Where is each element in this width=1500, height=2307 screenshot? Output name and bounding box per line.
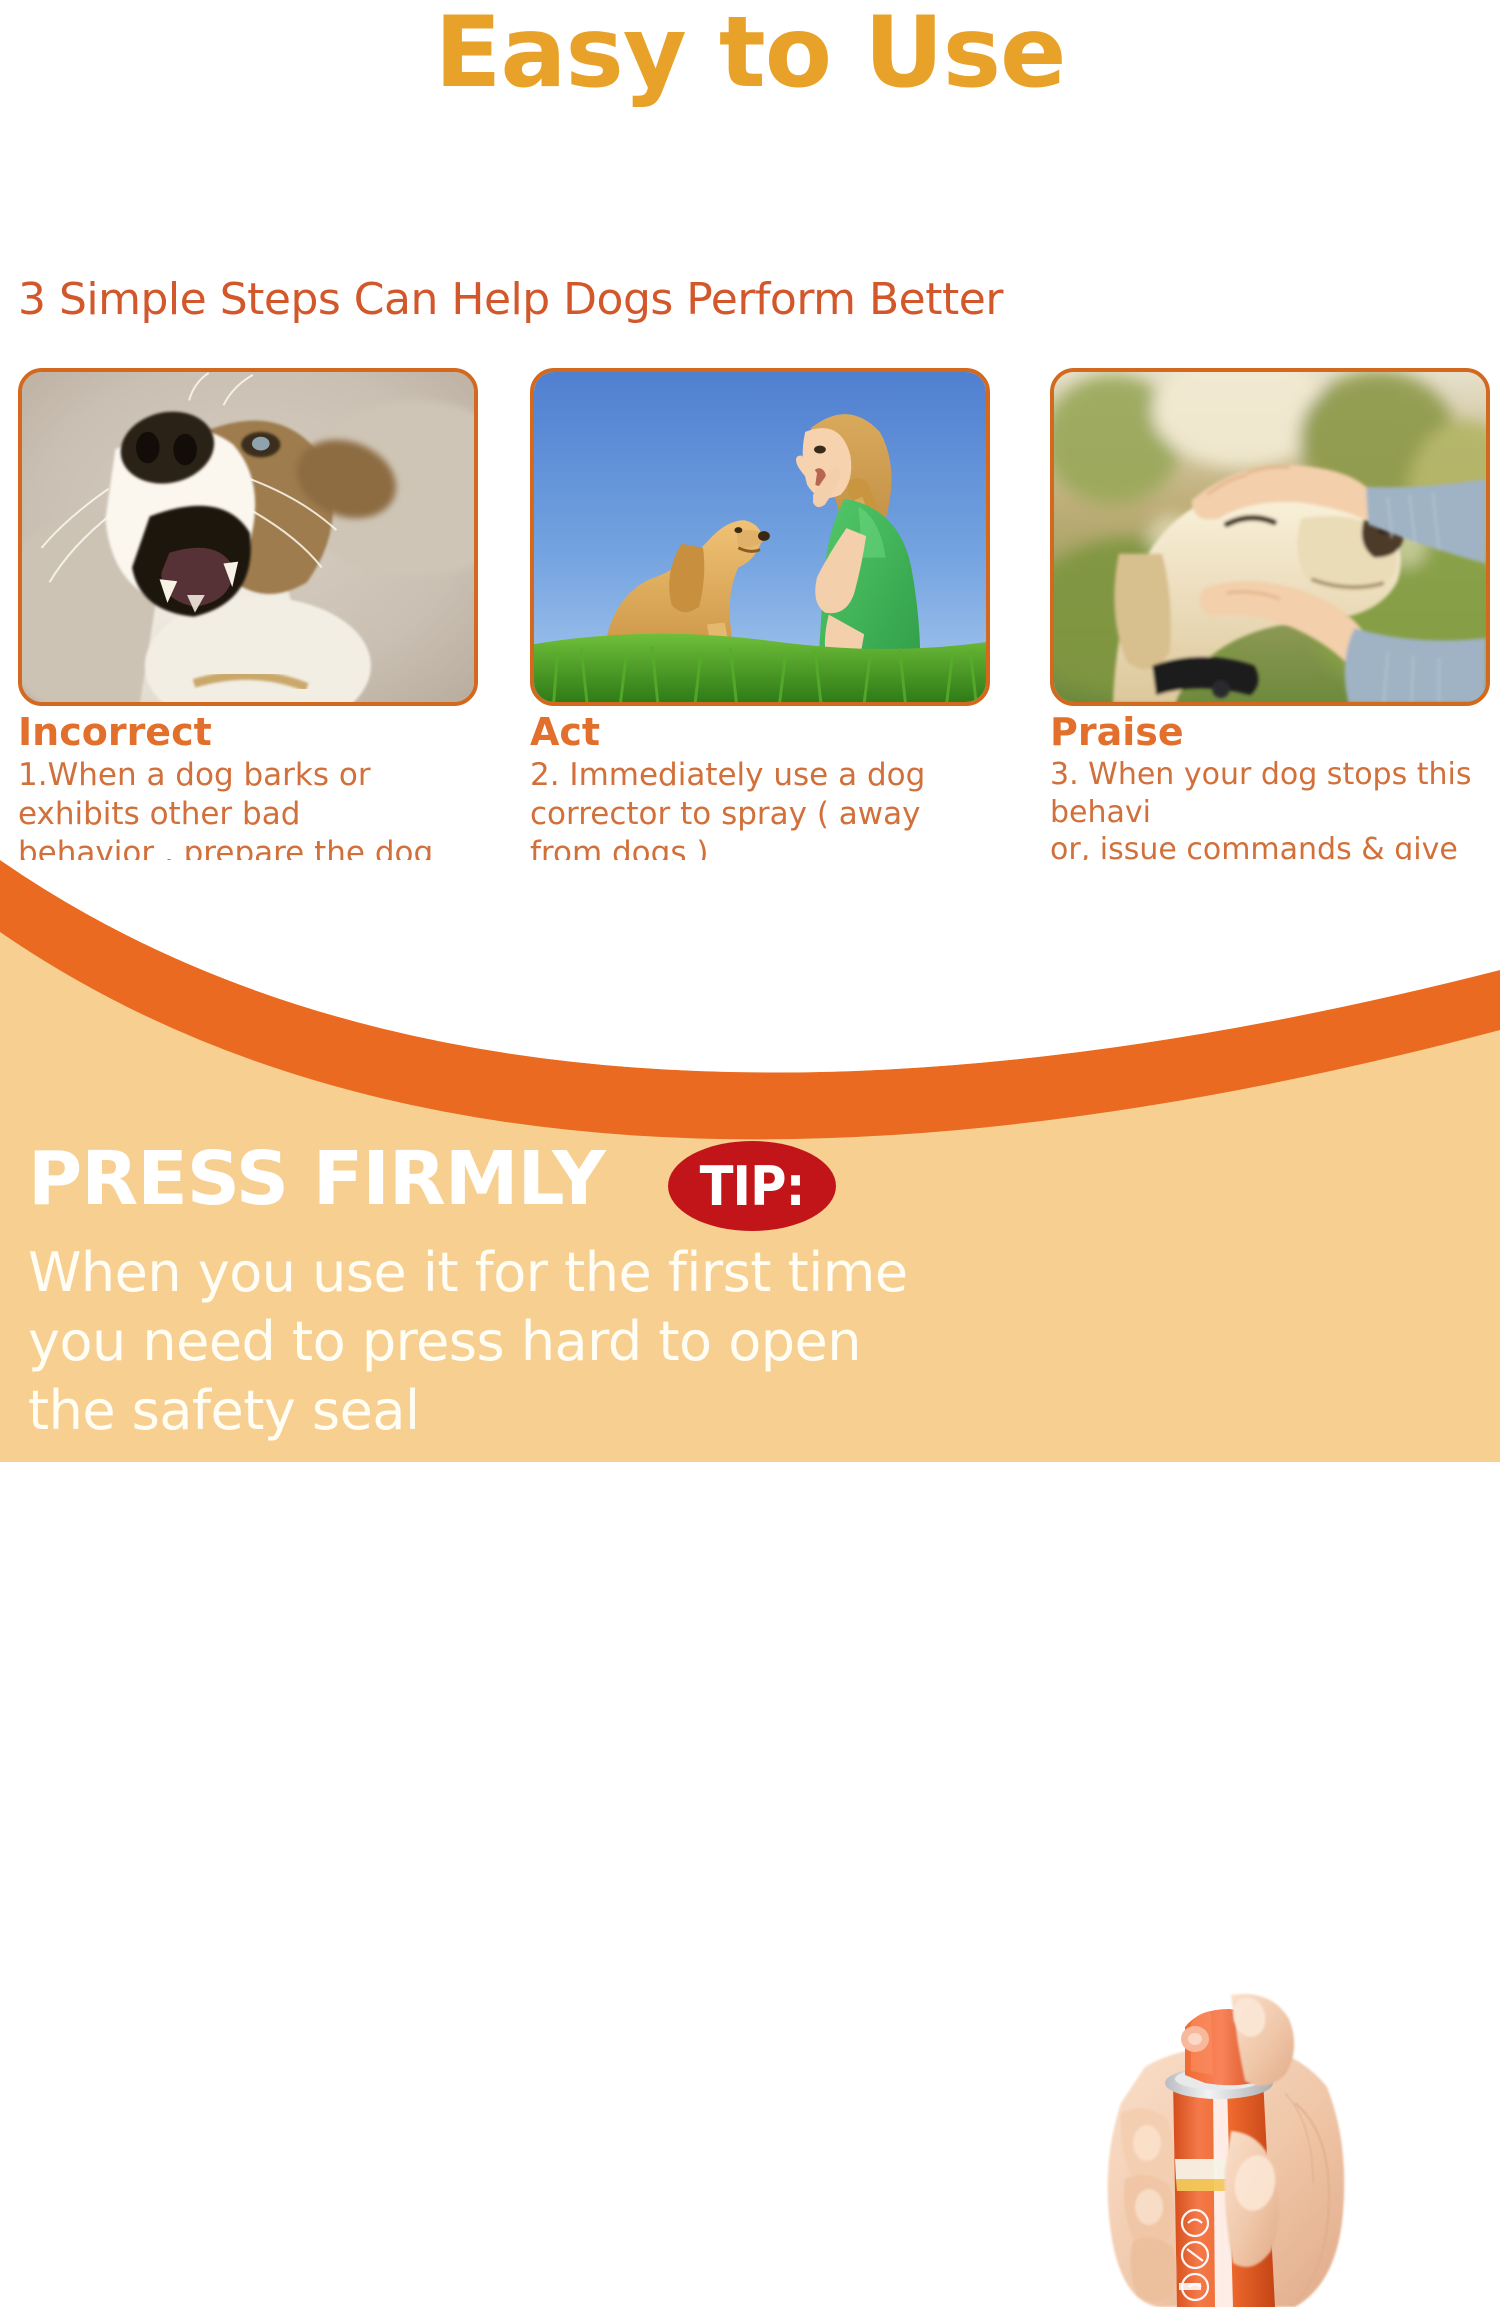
petting-labrador-illustration (1054, 372, 1486, 702)
press-firmly-heading: PRESS FIRMLY (28, 1136, 605, 1222)
product-photo (945, 1983, 1485, 2307)
step-card-praise: Praise 3. When your dog stops this behav… (1050, 368, 1490, 907)
steps-row: Incorrect 1.When a dog barks or exhibits… (0, 368, 1500, 848)
step-photo-training-dog (530, 368, 990, 706)
tip-badge-label: TIP: (700, 1155, 805, 1218)
hand-holding-spray-can-illustration (945, 1983, 1485, 2307)
step-photo-petting-dog (1050, 368, 1490, 706)
step-card-incorrect: Incorrect 1.When a dog barks or exhibits… (18, 368, 478, 912)
step-body: 2. Immediately use a dog corrector to sp… (530, 756, 990, 873)
step-title: Incorrect (18, 712, 478, 754)
woman-training-dog-illustration (534, 372, 986, 702)
tip-badge: TIP: (668, 1141, 836, 1231)
step-card-act: Act 2. Immediately use a dog corrector t… (530, 368, 990, 873)
step-photo-barking-dog (18, 368, 478, 706)
step-title: Act (530, 712, 990, 754)
section-subtitle: 3 Simple Steps Can Help Dogs Perform Bet… (18, 274, 1003, 325)
step-title: Praise (1050, 712, 1490, 754)
product-photo-panel (945, 1983, 1485, 2307)
barking-dog-illustration (22, 372, 474, 702)
page-title: Easy to Use (0, 2, 1500, 105)
press-firmly-body: When you use it for the first time you n… (28, 1238, 908, 1445)
